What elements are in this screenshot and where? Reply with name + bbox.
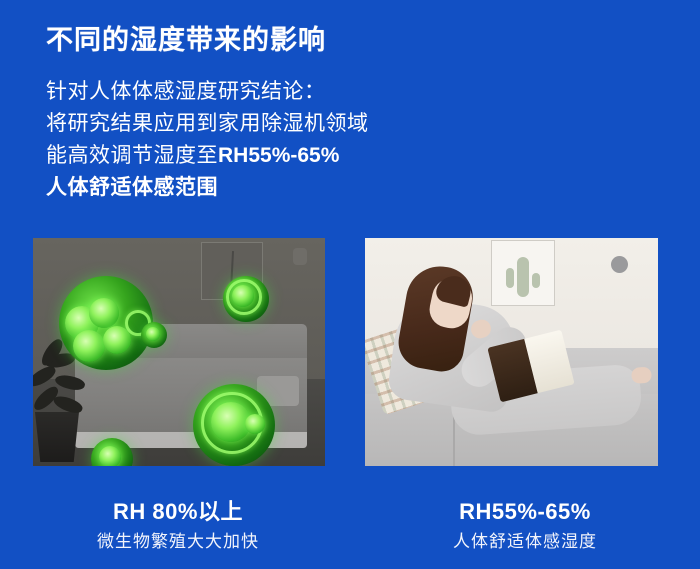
microbe-cluster-small — [223, 276, 269, 322]
light-room-scene — [365, 238, 658, 466]
copy-line-1: 针对人体体感湿度研究结论： — [46, 76, 466, 108]
copy-line-4: 人体舒适体感范围 — [46, 172, 466, 204]
body-copy-block: 针对人体体感湿度研究结论： 将研究结果应用到家用除湿机领域 能高效调节湿度至RH… — [46, 76, 466, 204]
microbe-cluster-tiny — [141, 322, 167, 348]
humidity-infographic-poster: 不同的湿度带来的影响 针对人体体感湿度研究结论： 将研究结果应用到家用除湿机领域… — [0, 0, 700, 569]
caption-title-right: RH55%-65% — [360, 498, 690, 526]
caption-sub-right: 人体舒适体感湿度 — [360, 530, 690, 554]
plant-pot — [35, 412, 79, 462]
copy-line-2: 将研究结果应用到家用除湿机领域 — [46, 108, 466, 140]
microbe-ring — [226, 279, 262, 315]
copy-line-3-highlight: RH55%-65% — [218, 144, 339, 167]
microbe-blob — [99, 446, 121, 466]
microbe-blob — [73, 330, 105, 362]
microbe-cluster-large — [59, 276, 153, 370]
caption-sub-left: 微生物繁殖大大加快 — [13, 530, 343, 554]
microbe-blob — [245, 414, 265, 434]
microbe-blob — [146, 327, 160, 341]
caption-row: RH 80%以上 微生物繁殖大大加快 RH55%-65% 人体舒适体感湿度 — [0, 498, 700, 569]
microbe-blob — [89, 298, 119, 328]
comparison-photo-row — [0, 238, 700, 466]
dark-room-scene — [33, 238, 325, 466]
copy-line-3: 能高效调节湿度至RH55%-65% — [46, 140, 466, 172]
plant-leaf — [54, 372, 86, 393]
photo-comfort-humidity — [365, 238, 658, 466]
caption-high-humidity: RH 80%以上 微生物繁殖大大加快 — [13, 498, 343, 554]
cactus-art-frame — [491, 240, 555, 306]
photo-high-humidity — [33, 238, 325, 466]
wall-speaker-icon — [611, 256, 628, 273]
wall-switch-icon — [293, 248, 307, 265]
copy-line-3-prefix: 能高效调节湿度至 — [46, 144, 218, 167]
page-title: 不同的湿度带来的影响 — [46, 18, 326, 57]
caption-title-left: RH 80%以上 — [13, 498, 343, 526]
cactus-icon — [517, 257, 529, 297]
microbe-cluster-medium — [193, 384, 275, 466]
caption-comfort-humidity: RH55%-65% 人体舒适体感湿度 — [360, 498, 690, 554]
